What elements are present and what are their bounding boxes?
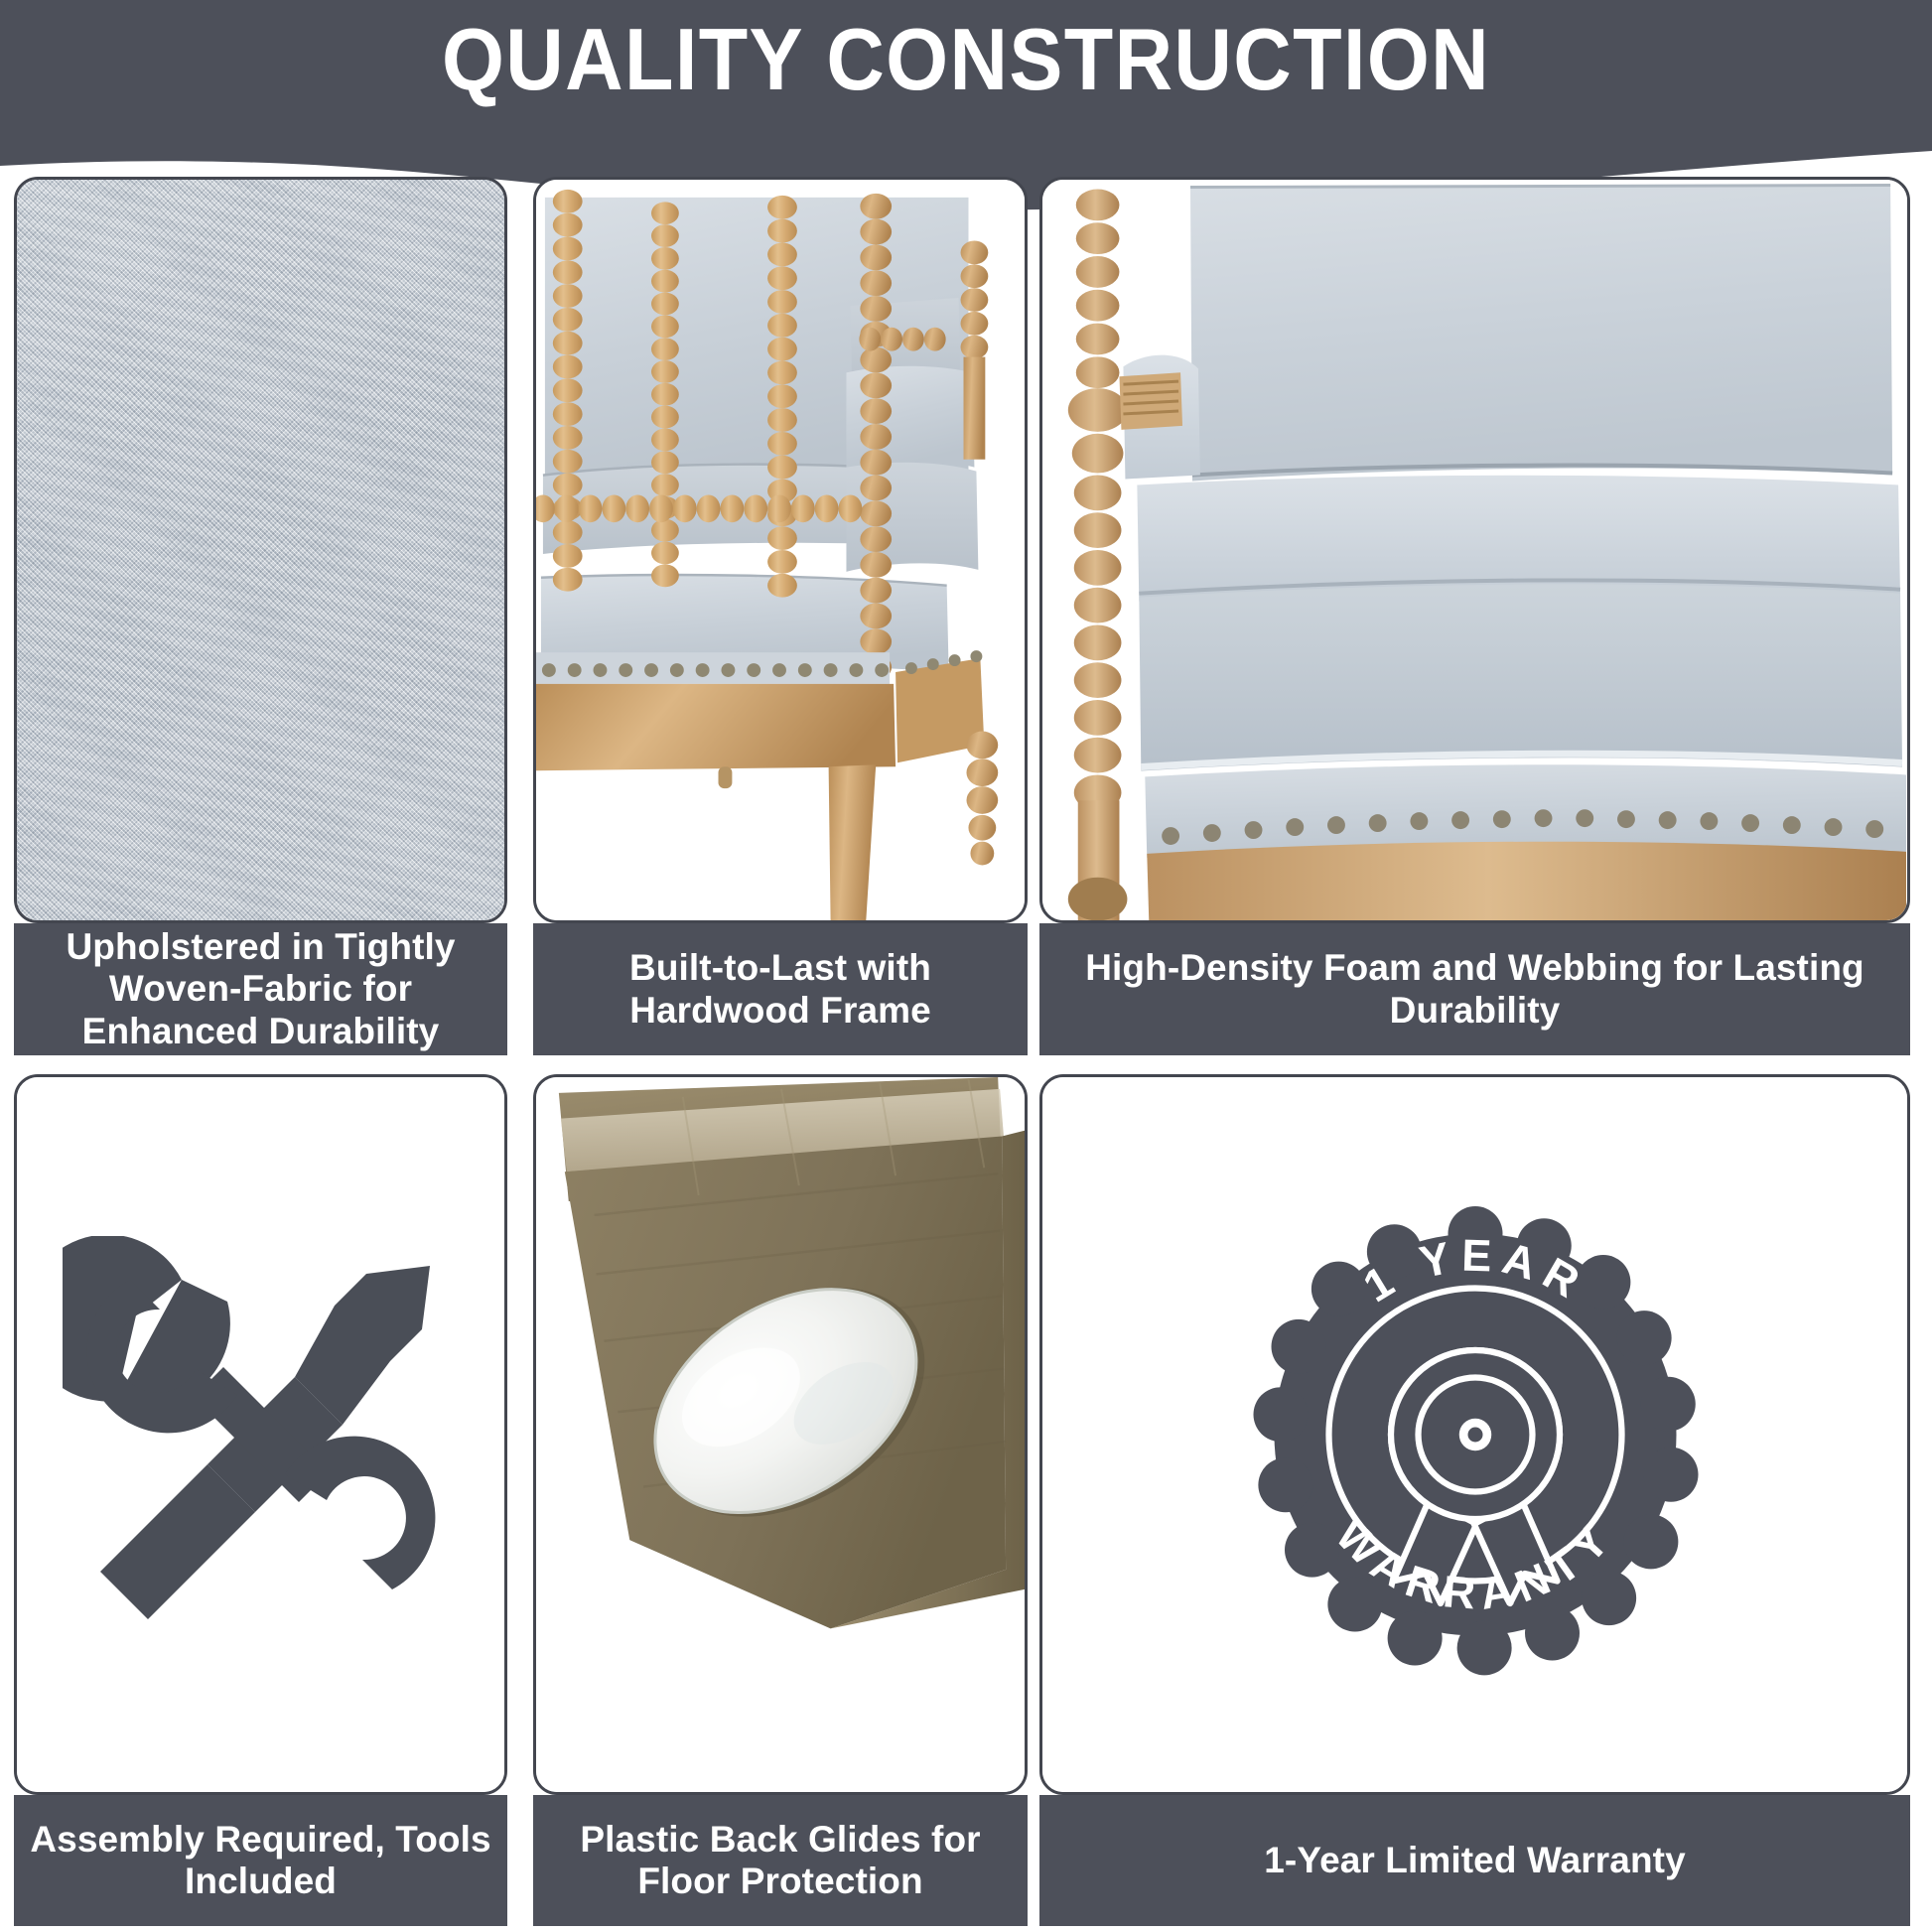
card-caption: Built-to-Last with Hardwood Frame <box>533 923 1028 1055</box>
plastic-back-glide-photo <box>533 1074 1028 1795</box>
card-caption-text: Plastic Back Glides for Floor Protection <box>547 1819 1014 1902</box>
feature-card-assembly: Assembly Required, Tools Included <box>14 1074 507 1926</box>
feature-card-warranty: 1 YEAR WARRANTY 1-Year Limited Warranty <box>1039 1074 1910 1926</box>
card-caption: High-Density Foam and Webbing for Lastin… <box>1039 923 1910 1055</box>
card-caption: Assembly Required, Tools Included <box>14 1795 507 1926</box>
card-caption: Plastic Back Glides for Floor Protection <box>533 1795 1028 1926</box>
card-caption-text: High-Density Foam and Webbing for Lastin… <box>1053 947 1896 1031</box>
tools-icon-container <box>17 1077 504 1792</box>
cushion-closeup-illustration <box>1042 180 1907 920</box>
spindle-chair-illustration <box>536 180 1025 920</box>
warranty-badge-panel: 1 YEAR WARRANTY <box>1039 1074 1910 1795</box>
woven-fabric-swatch-photo <box>14 177 507 923</box>
wood-leg-with-glide-illustration <box>536 1077 1025 1792</box>
page-title: QUALITY CONSTRUCTION <box>77 16 1855 103</box>
fabric-texture <box>17 180 504 920</box>
feature-card-foam-webbing: High-Density Foam and Webbing for Lastin… <box>1039 177 1910 1055</box>
card-caption-text: Built-to-Last with Hardwood Frame <box>547 947 1014 1031</box>
hardwood-spindle-chair-frame-photo <box>533 177 1028 923</box>
feature-card-upholstery: Upholstered in Tightly Woven-Fabric for … <box>14 177 507 1055</box>
high-density-foam-cushion-photo <box>1039 177 1910 923</box>
tools-icon-panel <box>14 1074 507 1795</box>
card-caption-text: 1-Year Limited Warranty <box>1053 1840 1896 1881</box>
card-caption: Upholstered in Tightly Woven-Fabric for … <box>14 923 507 1055</box>
feature-card-glides: Plastic Back Glides for Floor Protection <box>533 1074 1028 1926</box>
feature-card-hardwood-frame: Built-to-Last with Hardwood Frame <box>533 177 1028 1055</box>
card-caption-text: Assembly Required, Tools Included <box>28 1819 493 1902</box>
feature-cards-grid: Upholstered in Tightly Woven-Fabric for … <box>0 0 1932 1932</box>
wrench-and-screwdriver-icon <box>63 1236 460 1633</box>
warranty-badge-container: 1 YEAR WARRANTY <box>1042 1077 1907 1792</box>
card-caption-text: Upholstered in Tightly Woven-Fabric for … <box>28 926 493 1052</box>
one-year-warranty-seal-icon: 1 YEAR WARRANTY <box>1227 1186 1724 1683</box>
card-caption: 1-Year Limited Warranty <box>1039 1795 1910 1926</box>
